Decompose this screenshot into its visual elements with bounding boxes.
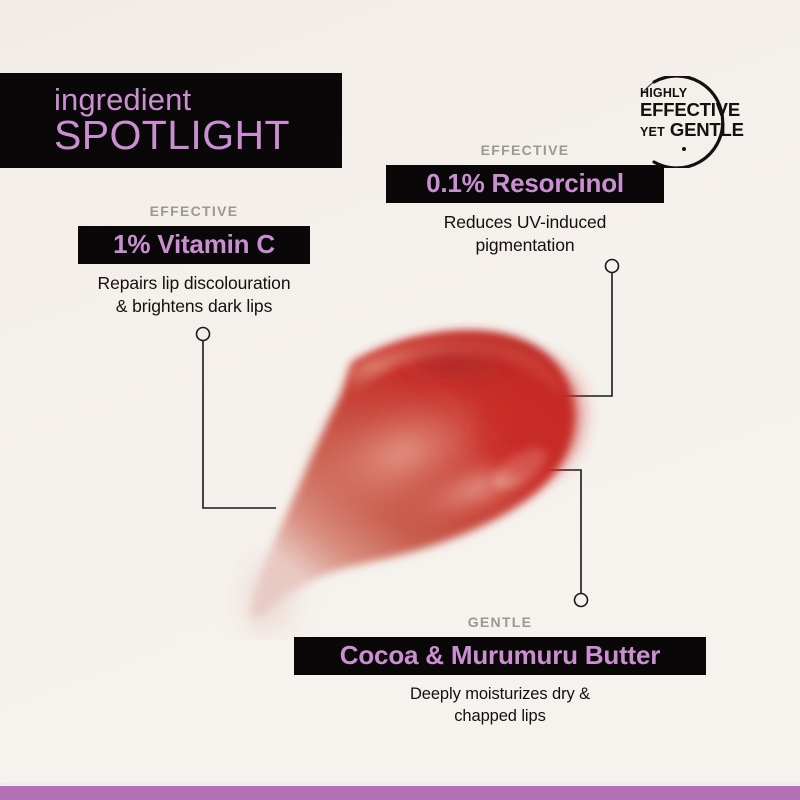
badge-text-block: HIGHLY EFFECTIVE YET GENTLE (640, 87, 760, 139)
callout-description-resorcinol: Reduces UV-induced pigmentation (370, 211, 680, 258)
callout-desc-line1-resorcinol: Reduces UV-induced (370, 211, 680, 234)
callout-name-cocoa-butter: Cocoa & Murumuru Butter (294, 637, 706, 675)
callout-desc-line1-cocoa-butter: Deeply moisturizes dry & (270, 684, 730, 706)
callout-name-resorcinol: 0.1% Resorcinol (386, 165, 664, 203)
header-title-line2: SPOTLIGHT (54, 115, 342, 157)
bottom-accent-bar (0, 786, 800, 800)
callout-name-vitamin-c: 1% Vitamin C (78, 226, 310, 264)
callout-description-vitamin-c: Repairs lip discolouration & brightens d… (44, 272, 344, 319)
callout-desc-line2-vitamin-c: & brightens dark lips (44, 295, 344, 318)
callout-desc-line1-vitamin-c: Repairs lip discolouration (44, 272, 344, 295)
lipstick-swatch-image (200, 310, 620, 640)
callout-vitamin-c: EFFECTIVE 1% Vitamin C Repairs lip disco… (44, 203, 344, 319)
callout-resorcinol: EFFECTIVE 0.1% Resorcinol Reduces UV-ind… (370, 142, 680, 258)
badge-word-gentle: GENTLE (670, 119, 744, 140)
header-banner: ingredient SPOTLIGHT (0, 73, 342, 168)
callout-desc-line2-resorcinol: pigmentation (370, 234, 680, 257)
callout-desc-line2-cocoa-butter: chapped lips (270, 706, 730, 728)
callout-kicker-resorcinol: EFFECTIVE (370, 142, 680, 158)
header-title-line1: ingredient (54, 84, 342, 116)
badge-dot-icon (682, 147, 686, 151)
callout-kicker-cocoa-butter: GENTLE (270, 614, 730, 630)
badge-line-effective: EFFECTIVE (640, 100, 760, 119)
ingredient-spotlight-graphic: ingredient SPOTLIGHT HIGHLY EFFECTIVE YE… (0, 0, 800, 800)
callout-kicker-vitamin-c: EFFECTIVE (44, 203, 344, 219)
badge-word-yet: YET (640, 125, 665, 139)
badge-line-yet-gentle: YET GENTLE (640, 120, 760, 139)
callout-cocoa-butter: GENTLE Cocoa & Murumuru Butter Deeply mo… (270, 614, 730, 728)
callout-description-cocoa-butter: Deeply moisturizes dry & chapped lips (270, 684, 730, 728)
